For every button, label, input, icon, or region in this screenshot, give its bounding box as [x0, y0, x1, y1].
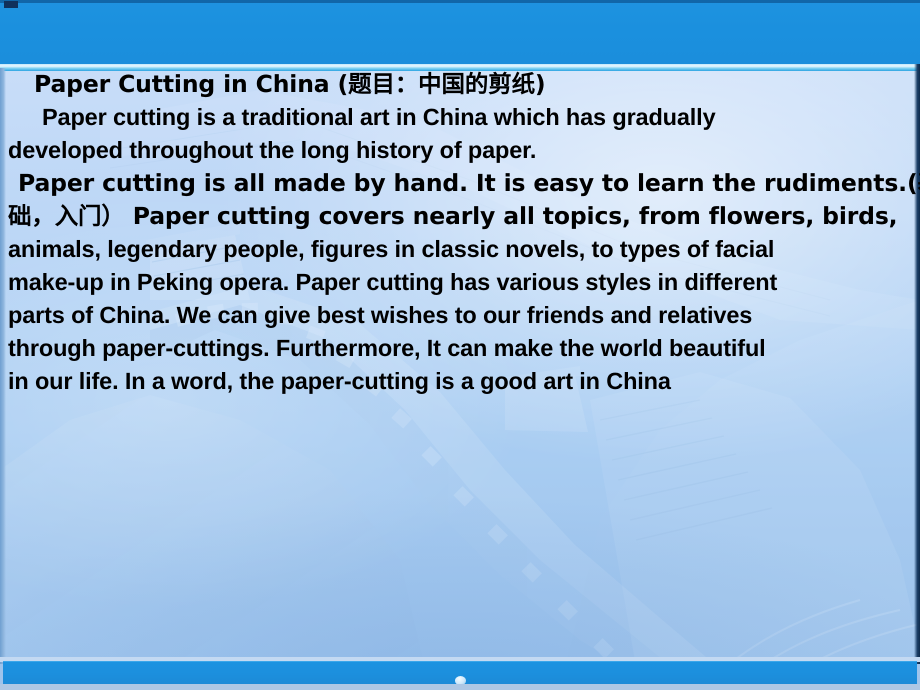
header-corner-mark — [4, 1, 18, 8]
slide-body-line-7: parts of China. We can give best wishes … — [8, 299, 914, 332]
slide-left-edge — [0, 68, 6, 664]
presentation-slide: Paper Cutting in China (题目：中国的剪纸) Paper … — [0, 0, 920, 690]
header-top-edge — [0, 0, 920, 3]
slide-title-line: Paper Cutting in China (题目：中国的剪纸) — [8, 68, 914, 101]
slide-text-body: Paper Cutting in China (题目：中国的剪纸) Paper … — [8, 68, 914, 398]
slide-body-line-3: Paper cutting is all made by hand. It is… — [8, 167, 914, 200]
slide-body-line-2: developed throughout the long history of… — [8, 134, 914, 167]
slide-body-line-5: animals, legendary people, figures in cl… — [8, 233, 914, 266]
slide-right-edge — [914, 64, 920, 664]
slide-body-line-8: through paper-cuttings. Furthermore, It … — [8, 332, 914, 365]
slide-header-band — [0, 0, 920, 64]
slide-body-line-9: in our life. In a word, the paper-cuttin… — [8, 365, 914, 398]
slide-body-line-4: 础，入门） Paper cutting covers nearly all to… — [8, 200, 914, 233]
slide-body-line-1: Paper cutting is a traditional art in Ch… — [8, 101, 914, 134]
slide-bottom-strip — [0, 684, 920, 690]
slide-body-line-6: make-up in Peking opera. Paper cutting h… — [8, 266, 914, 299]
